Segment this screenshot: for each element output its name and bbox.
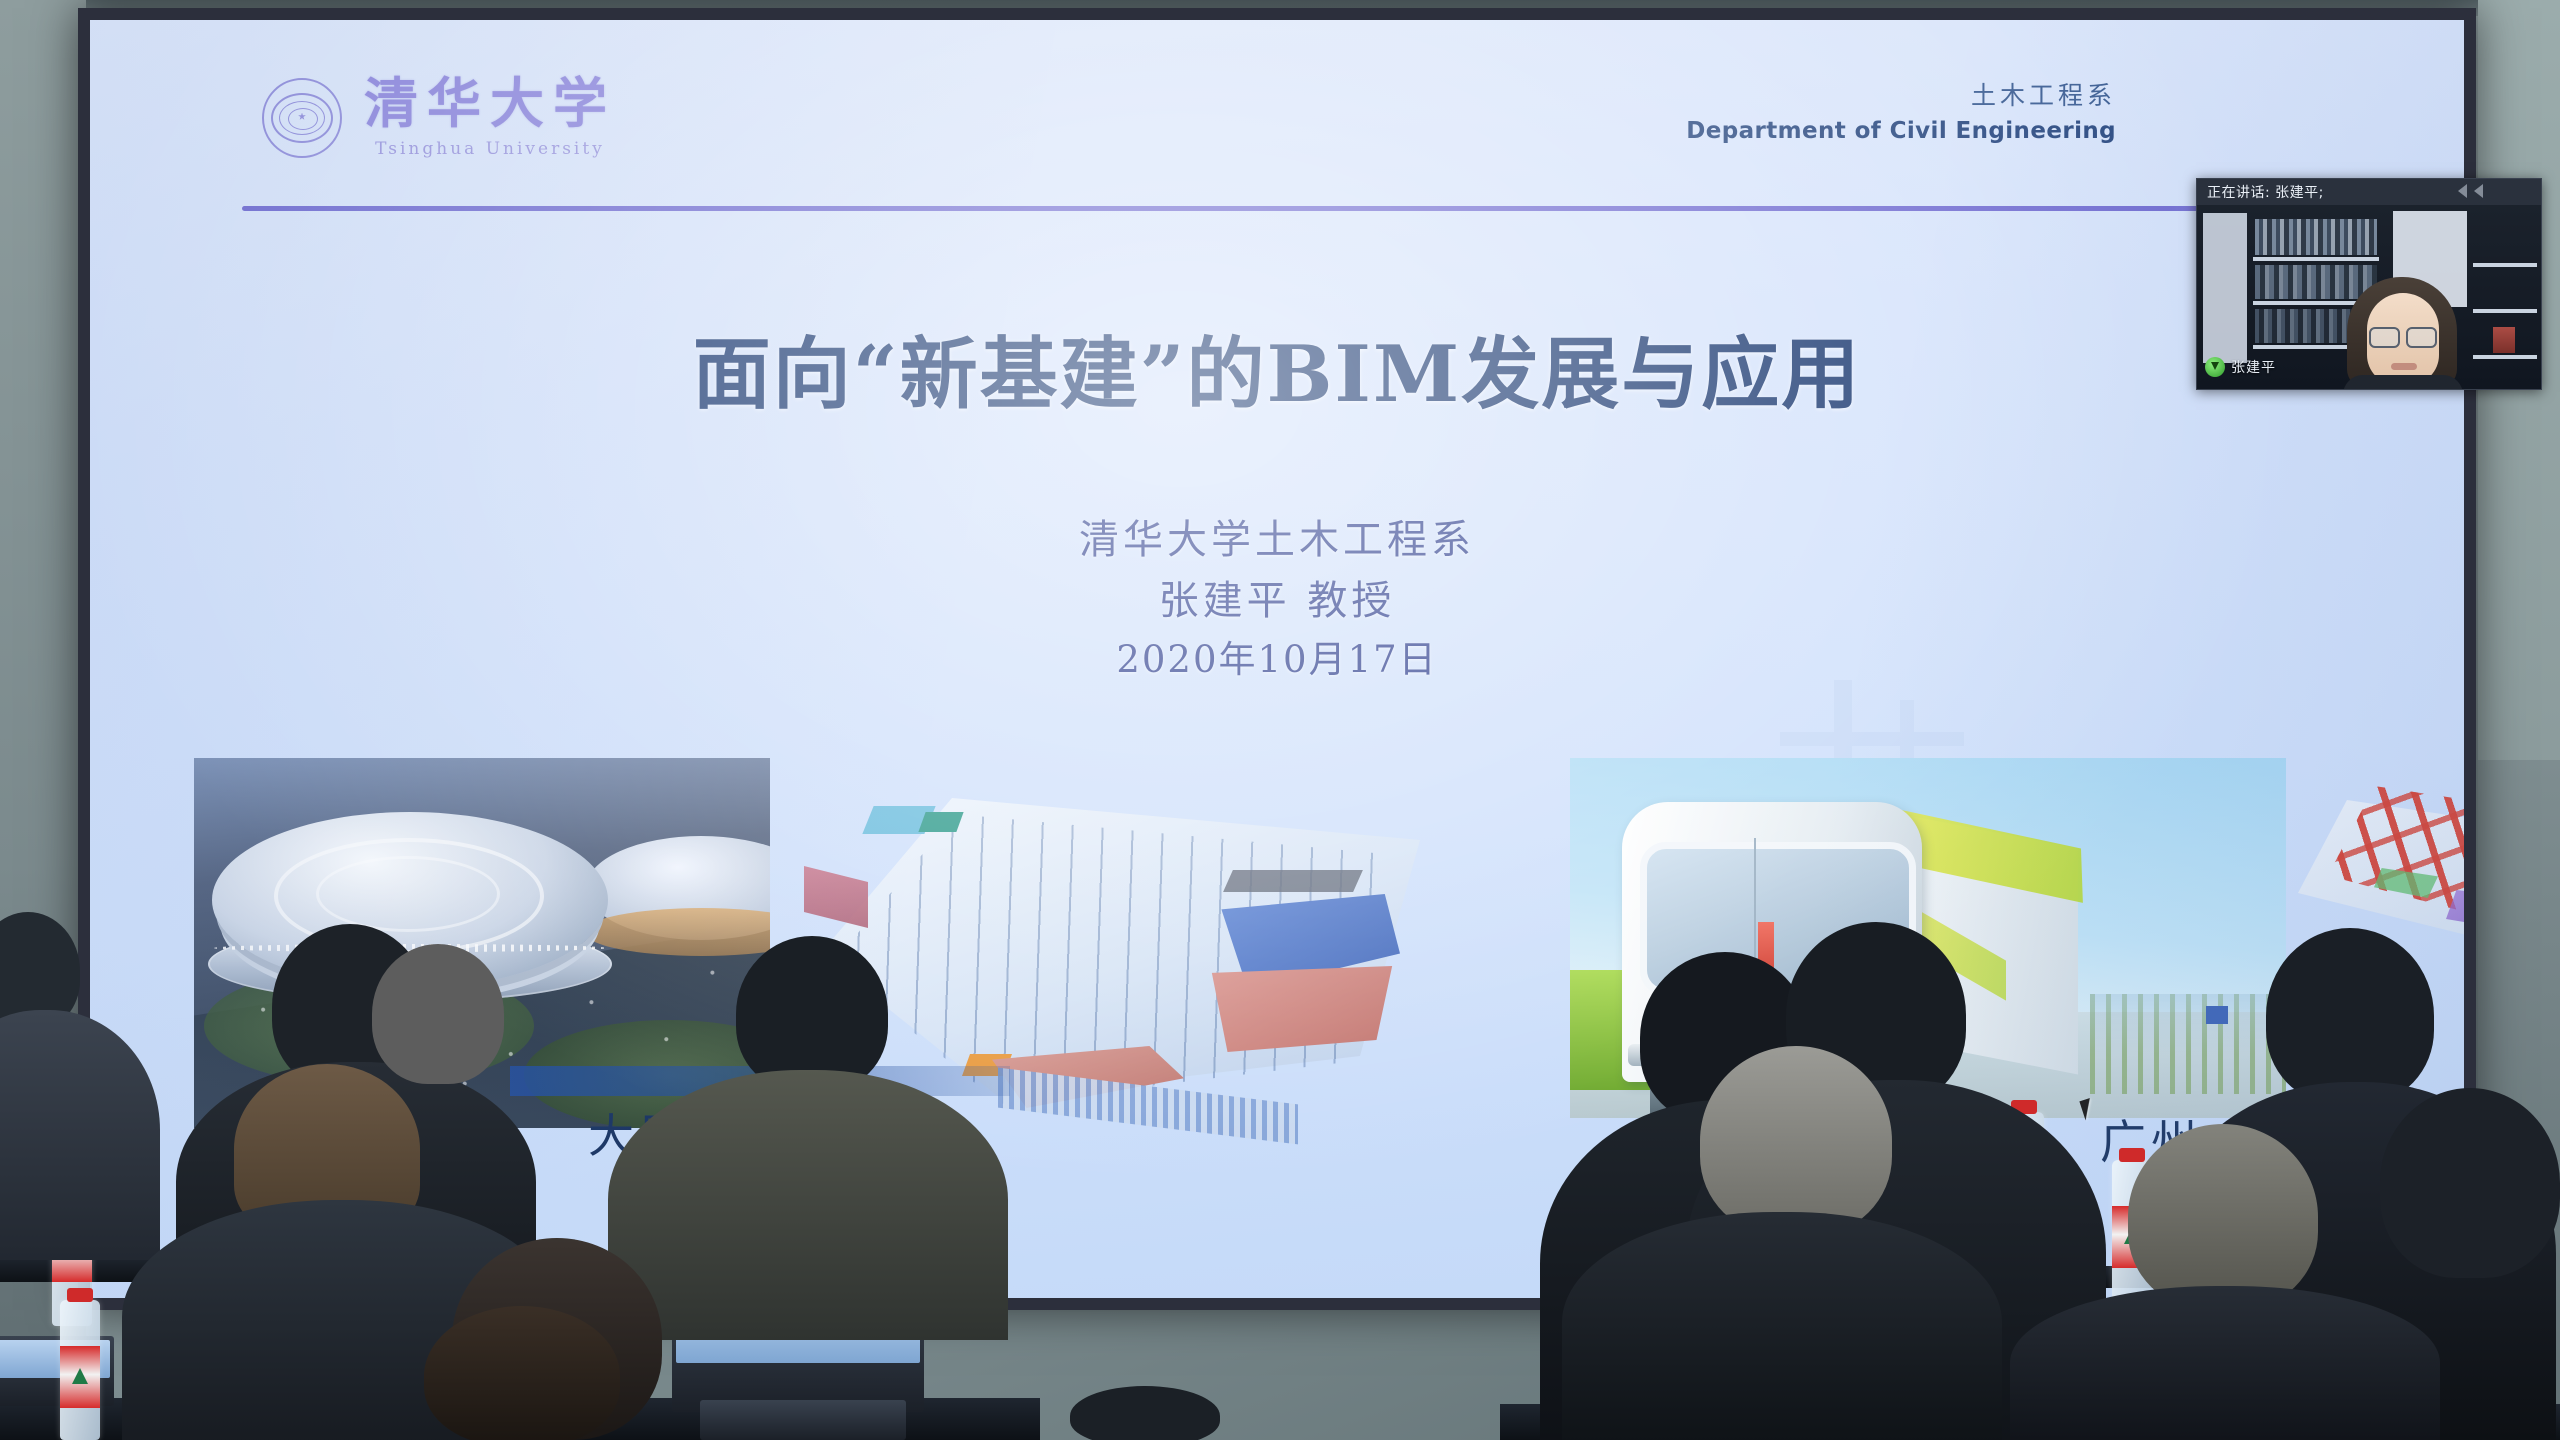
header-divider xyxy=(242,206,2464,211)
seal-inner-ring xyxy=(288,108,318,130)
image-bim-structure-model xyxy=(2288,758,2464,998)
backdrop-panel-left xyxy=(2203,213,2247,363)
chevron-left-icon xyxy=(2458,184,2467,198)
desk-row-front-2 xyxy=(1500,1404,2560,1440)
participant-name: 张建平 xyxy=(2231,357,2276,377)
slide-title: 面向“新基建”的BIM发展与应用 xyxy=(90,312,2464,424)
caption-left: 大厦 xyxy=(588,1100,690,1166)
audience-head-13 xyxy=(424,1306,620,1440)
video-conference-panel[interactable]: 正在讲话: 张建平; xyxy=(2196,178,2542,390)
water-bottle-5 xyxy=(1920,1398,1960,1440)
bookshelf-books-row1 xyxy=(2255,219,2377,255)
microphone-active-icon[interactable] xyxy=(2205,357,2225,377)
university-name-cn: 清华大学 xyxy=(364,76,616,130)
slide-subtitle-block: 清华大学土木工程系 张建平 教授 2020年10月17日 xyxy=(90,510,2464,688)
participant-mouth xyxy=(2391,363,2417,370)
affiliation-line: 清华大学土木工程系 xyxy=(90,510,2464,571)
laptop-center xyxy=(700,1400,906,1440)
image-caption-band xyxy=(510,1066,1010,1096)
video-panel-titlebar[interactable]: 正在讲话: 张建平; xyxy=(2197,179,2541,205)
bookshelf-shelf-6 xyxy=(2473,355,2537,359)
participant-nametag: 张建平 xyxy=(2205,357,2276,377)
projection-screen-bezel: 清华大学 Tsinghua University 土木工程系 Departmen… xyxy=(78,8,2476,1310)
collapse-panel-button[interactable] xyxy=(2458,184,2483,198)
video-feed[interactable]: 张建平 xyxy=(2197,205,2541,389)
wall-left xyxy=(0,0,86,1440)
presentation-slide: 清华大学 Tsinghua University 土木工程系 Departmen… xyxy=(90,20,2464,1298)
department-name-cn: 土木工程系 xyxy=(1686,76,2116,112)
bookshelf-books-row2 xyxy=(2255,265,2377,299)
bookshelf-shelf-5 xyxy=(2473,309,2537,313)
audience-head-14 xyxy=(1070,1386,1220,1440)
image-bim-site-model xyxy=(780,758,1460,1188)
tsinghua-seal-icon xyxy=(262,78,342,158)
shelf-object xyxy=(2493,327,2515,353)
university-name-en: Tsinghua University xyxy=(364,139,616,159)
slide-header: 清华大学 Tsinghua University 土木工程系 Departmen… xyxy=(90,20,2464,216)
desk-row-front xyxy=(0,1398,1040,1440)
department-block: 土木工程系 Department of Civil Engineering xyxy=(1686,76,2116,144)
department-name-en: Department of Civil Engineering xyxy=(1686,118,2116,144)
wall-right-lower xyxy=(2478,760,2560,1440)
chevron-left-icon-2 xyxy=(2474,184,2483,198)
bookshelf-shelf-4 xyxy=(2473,263,2537,267)
screenshot-root: 清华大学 Tsinghua University 土木工程系 Departmen… xyxy=(0,0,2560,1440)
bookshelf-shelf-1 xyxy=(2253,257,2379,261)
speaker-line: 张建平 教授 xyxy=(90,571,2464,632)
caption-right: 广州 xyxy=(2100,1106,2202,1172)
seal-star-icon xyxy=(298,113,306,121)
speaking-label: 正在讲话: 张建平; xyxy=(2197,182,2324,202)
participant-shoulders xyxy=(2343,375,2463,389)
participant-glasses xyxy=(2369,327,2437,344)
tsinghua-logo: 清华大学 Tsinghua University xyxy=(262,76,616,159)
image-metro-train-photo xyxy=(1570,758,2286,1118)
date-line: 2020年10月17日 xyxy=(90,632,2464,688)
